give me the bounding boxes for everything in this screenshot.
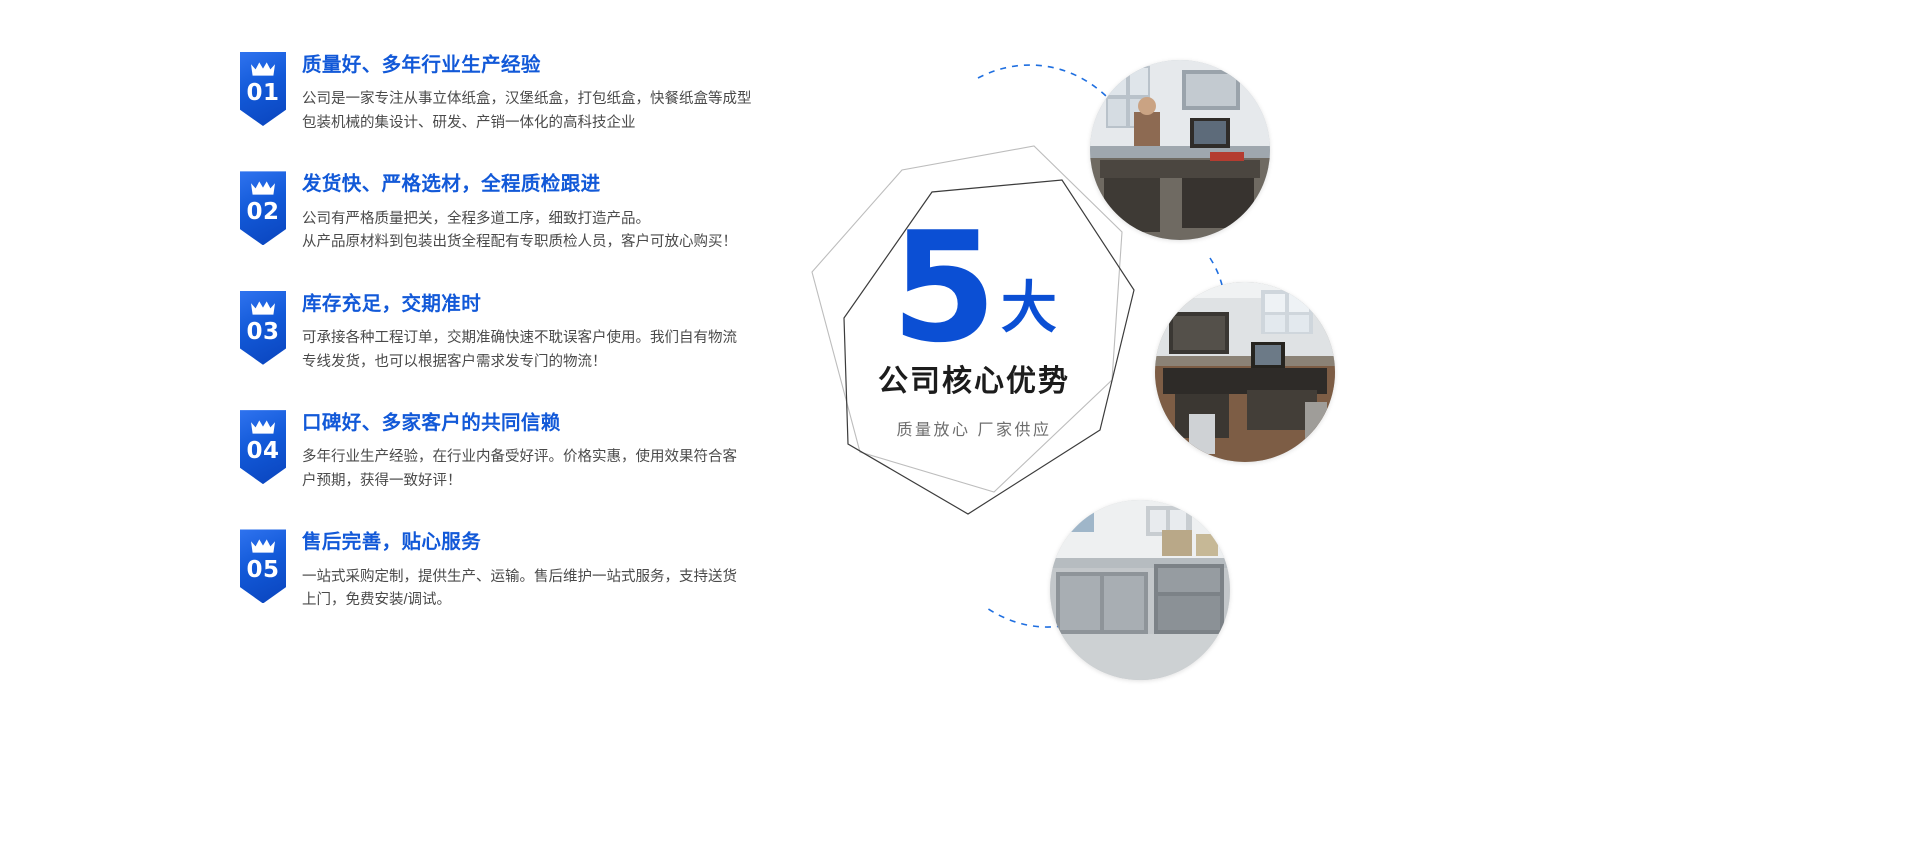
office-interior-photo bbox=[1155, 282, 1335, 462]
feature-body-05: 一站式采购定制，提供生产、运输。售后维护一站式服务，支持送货 上门，免费安装/调… bbox=[302, 566, 780, 613]
feature-body-04: 多年行业生产经验，在行业内备受好评。价格实惠，使用效果符合客 户预期，获得一致好… bbox=[302, 446, 780, 493]
feature-number-01: 01 bbox=[246, 82, 279, 105]
feature-body-line: 多年行业生产经验，在行业内备受好评。价格实惠，使用效果符合客 bbox=[302, 446, 780, 469]
feature-item-05: 05 售后完善，贴心服务 一站式采购定制，提供生产、运输。售后维护一站式服务，支… bbox=[240, 529, 780, 612]
feature-badge-03: 03 bbox=[240, 291, 286, 365]
feature-number-04: 04 bbox=[246, 440, 279, 463]
crown-icon bbox=[250, 300, 276, 317]
feature-number-03: 03 bbox=[246, 321, 279, 344]
feature-text-02: 发货快、严格选材，全程质检跟进 公司有严格质量把关，全程多道工序，细致打造产品。… bbox=[302, 171, 780, 254]
feature-text-01: 质量好、多年行业生产经验 公司是一家专注从事立体纸盒，汉堡纸盒，打包纸盒，快餐纸… bbox=[302, 52, 780, 135]
feature-badge-02: 02 bbox=[240, 171, 286, 245]
photo-office-workstation bbox=[1090, 60, 1270, 240]
feature-heading-01: 质量好、多年行业生产经验 bbox=[302, 54, 780, 77]
promo-banner: 01 质量好、多年行业生产经验 公司是一家专注从事立体纸盒，汉堡纸盒，打包纸盒，… bbox=[0, 0, 1920, 847]
dash-arc-top bbox=[978, 65, 1106, 96]
office-workstation-photo bbox=[1090, 60, 1270, 240]
feature-item-04: 04 口碑好、多家客户的共同信赖 多年行业生产经验，在行业内备受好评。价格实惠，… bbox=[240, 410, 780, 493]
feature-text-05: 售后完善，贴心服务 一站式采购定制，提供生产、运输。售后维护一站式服务，支持送货… bbox=[302, 529, 780, 612]
crown-icon bbox=[250, 538, 276, 555]
photo-office-interior bbox=[1155, 282, 1335, 462]
feature-list: 01 质量好、多年行业生产经验 公司是一家专注从事立体纸盒，汉堡纸盒，打包纸盒，… bbox=[240, 52, 780, 613]
feature-number-02: 02 bbox=[246, 201, 279, 224]
feature-body-01: 公司是一家专注从事立体纸盒，汉堡纸盒，打包纸盒，快餐纸盒等成型 包装机械的集设计… bbox=[302, 88, 780, 135]
feature-body-02: 公司有严格质量把关，全程多道工序，细致打造产品。 从产品原材料到包装出货全程配有… bbox=[302, 208, 780, 255]
crown-icon bbox=[250, 180, 276, 197]
feature-body-line: 一站式采购定制，提供生产、运输。售后维护一站式服务，支持送货 bbox=[302, 566, 780, 589]
feature-body-line: 上门，免费安装/调试。 bbox=[302, 589, 780, 612]
feature-body-line: 可承接各种工程订单，交期准确快速不耽误客户使用。我们自有物流 bbox=[302, 327, 780, 350]
feature-body-line: 户预期，获得一致好评！ bbox=[302, 470, 780, 493]
feature-heading-02: 发货快、严格选材，全程质检跟进 bbox=[302, 173, 780, 196]
feature-item-03: 03 库存充足，交期准时 可承接各种工程订单，交期准确快速不耽误客户使用。我们自… bbox=[240, 291, 780, 374]
feature-body-line: 公司有严格质量把关，全程多道工序，细致打造产品。 bbox=[302, 208, 780, 231]
crown-icon bbox=[250, 61, 276, 78]
feature-body-line: 包装机械的集设计、研发、产销一体化的高科技企业 bbox=[302, 112, 780, 135]
feature-badge-04: 04 bbox=[240, 410, 286, 484]
feature-body-line: 从产品原材料到包装出货全程配有专职质检人员，客户可放心购买！ bbox=[302, 231, 780, 254]
feature-heading-03: 库存充足，交期准时 bbox=[302, 293, 780, 316]
feature-badge-01: 01 bbox=[240, 52, 286, 126]
feature-item-01: 01 质量好、多年行业生产经验 公司是一家专注从事立体纸盒，汉堡纸盒，打包纸盒，… bbox=[240, 52, 780, 135]
photo-cluster bbox=[1030, 40, 1360, 640]
feature-heading-05: 售后完善，贴心服务 bbox=[302, 531, 780, 554]
photo-production-machine bbox=[1050, 500, 1230, 680]
feature-number-05: 05 bbox=[246, 559, 279, 582]
feature-body-line: 公司是一家专注从事立体纸盒，汉堡纸盒，打包纸盒，快餐纸盒等成型 bbox=[302, 88, 780, 111]
feature-item-02: 02 发货快、严格选材，全程质检跟进 公司有严格质量把关，全程多道工序，细致打造… bbox=[240, 171, 780, 254]
feature-badge-05: 05 bbox=[240, 529, 286, 603]
feature-heading-04: 口碑好、多家客户的共同信赖 bbox=[302, 412, 780, 435]
feature-body-line: 专线发货，也可以根据客户需求发专门的物流！ bbox=[302, 351, 780, 374]
production-machine-photo bbox=[1050, 500, 1230, 680]
crown-icon bbox=[250, 419, 276, 436]
feature-text-04: 口碑好、多家客户的共同信赖 多年行业生产经验，在行业内备受好评。价格实惠，使用效… bbox=[302, 410, 780, 493]
feature-body-03: 可承接各种工程订单，交期准确快速不耽误客户使用。我们自有物流 专线发货，也可以根… bbox=[302, 327, 780, 374]
feature-text-03: 库存充足，交期准时 可承接各种工程订单，交期准确快速不耽误客户使用。我们自有物流… bbox=[302, 291, 780, 374]
